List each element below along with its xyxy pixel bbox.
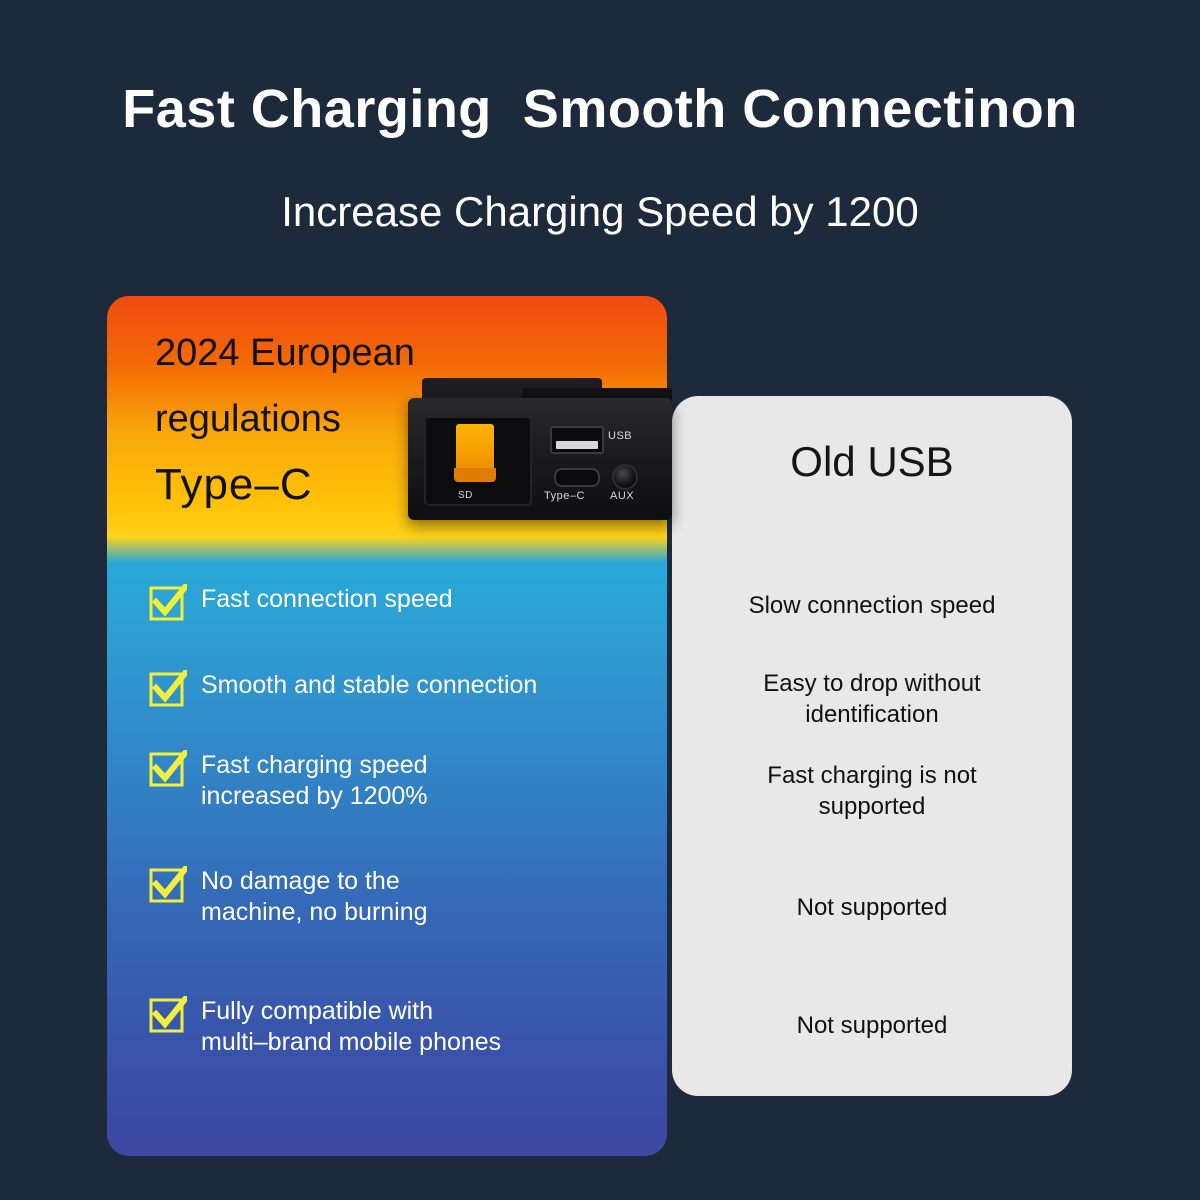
old-usb-row-2: Fast charging is notsupported <box>690 760 1054 822</box>
car-multimedia-port-module-image: USB Type–C AUX SD <box>404 378 676 530</box>
type-c-heading: 2024 European regulations Type–C <box>155 320 415 518</box>
feature-label: Fast connection speed <box>201 582 453 615</box>
check-mark-icon <box>149 866 187 904</box>
usb-port-label: USB <box>608 430 632 442</box>
check-mark-icon <box>149 670 187 708</box>
aux-port-label: AUX <box>610 490 634 502</box>
device-orange-connector <box>456 424 494 474</box>
old-usb-row-0: Slow connection speed <box>690 590 1054 621</box>
poster-canvas: Fast Charging Smooth Connectinon Increas… <box>0 0 1200 1200</box>
feature-label: Fast charging speedincreased by 1200% <box>201 748 428 812</box>
old-usb-row-4: Not supported <box>690 1010 1054 1041</box>
old-usb-row-1: Easy to drop withoutidentification <box>690 668 1054 730</box>
feature-row: Fully compatible withmulti–brand mobile … <box>149 994 659 1058</box>
old-usb-title: Old USB <box>672 438 1072 486</box>
feature-row: Fast charging speedincreased by 1200% <box>149 748 659 812</box>
old-usb-card: Old USB Slow connection speed Easy to dr… <box>672 396 1072 1096</box>
usb-c-port-icon <box>554 468 600 487</box>
feature-row: No damage to themachine, no burning <box>149 864 659 928</box>
page-subtitle: Increase Charging Speed by 1200 <box>0 188 1200 236</box>
feature-label: Smooth and stable connection <box>201 668 537 701</box>
type-c-heading-line3: Type–C <box>155 452 415 518</box>
feature-row: Fast connection speed <box>149 582 659 622</box>
check-mark-icon <box>149 584 187 622</box>
usb-a-port-icon <box>550 426 604 454</box>
feature-label: No damage to themachine, no burning <box>201 864 428 928</box>
device-orange-connector-tip <box>454 468 496 482</box>
feature-row: Smooth and stable connection <box>149 668 659 708</box>
type-c-port-label: Type–C <box>544 490 585 502</box>
check-mark-icon <box>149 750 187 788</box>
page-title: Fast Charging Smooth Connectinon <box>0 78 1200 140</box>
check-mark-icon <box>149 996 187 1034</box>
feature-label: Fully compatible withmulti–brand mobile … <box>201 994 501 1058</box>
sd-port-label: SD <box>458 490 473 501</box>
old-usb-row-3: Not supported <box>690 892 1054 923</box>
type-c-heading-line2: regulations <box>155 386 415 452</box>
type-c-heading-line1: 2024 European <box>155 320 415 386</box>
aux-jack-icon <box>612 464 638 490</box>
